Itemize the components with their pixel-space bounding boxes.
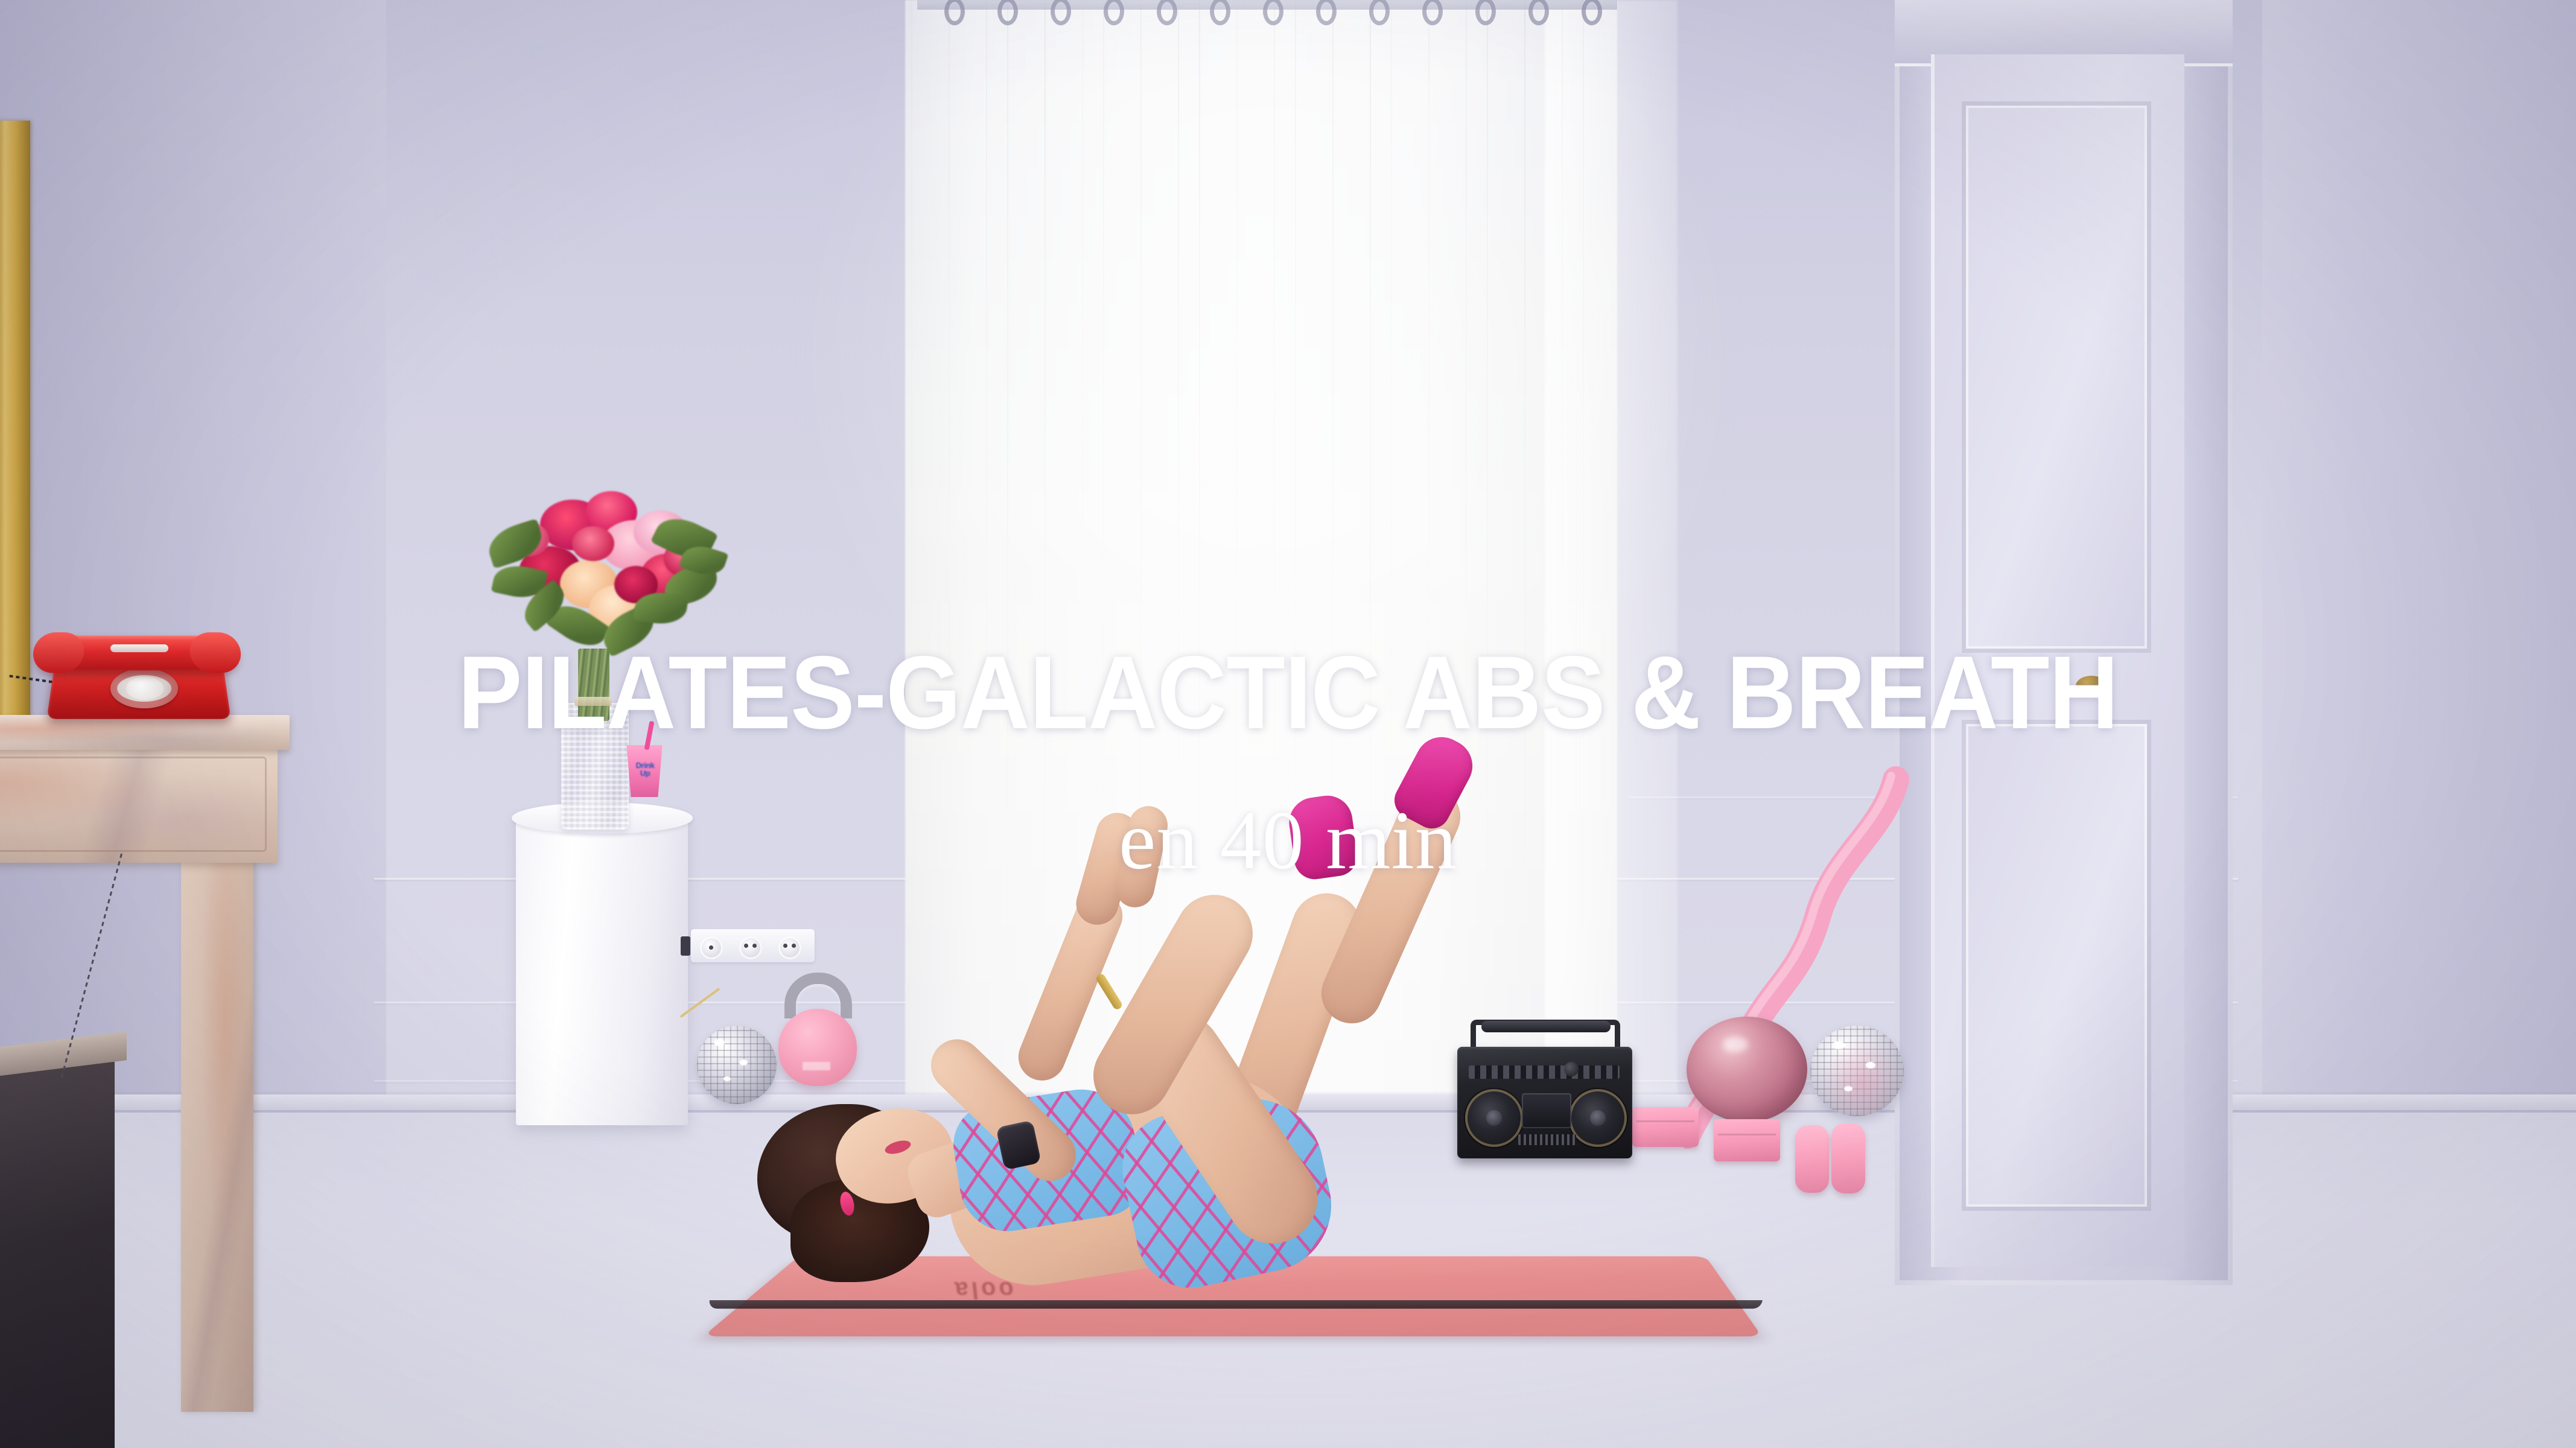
page-title: PILATES-GALACTIC ABS & BREATH xyxy=(90,640,2485,746)
text-overlay: PILATES-GALACTIC ABS & BREATH en 40 min xyxy=(0,0,2576,1448)
video-title-card: Drink Up xyxy=(0,0,2576,1448)
phone-handset-grip xyxy=(110,644,168,652)
page-subtitle: en 40 min xyxy=(0,795,2576,886)
